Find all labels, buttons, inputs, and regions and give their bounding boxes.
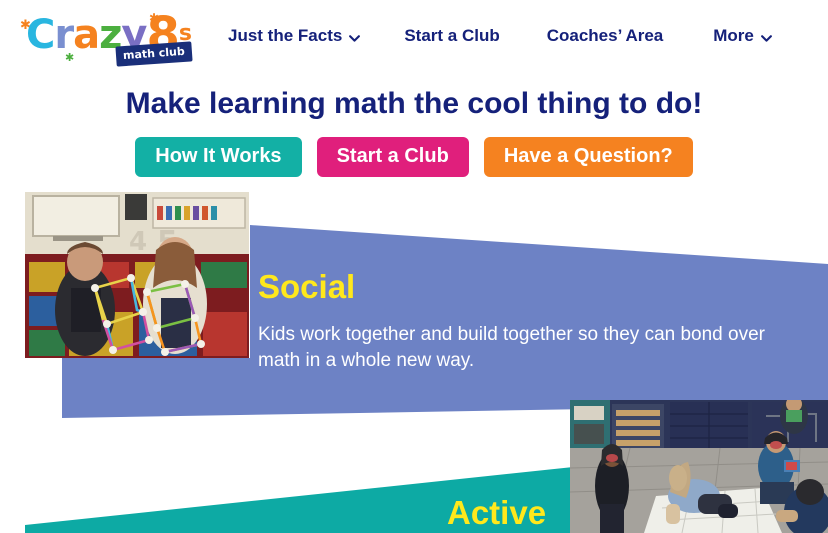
logo-letter-c: C — [26, 15, 54, 55]
start-a-club-button[interactable]: Start a Club — [317, 137, 469, 177]
svg-text:4: 4 — [129, 227, 147, 257]
social-photo-artwork: 4 5 — [25, 192, 249, 358]
site-header: ✱ ✱ ✱ Crazy8s math club Just the Facts S… — [0, 0, 828, 78]
chevron-down-icon[interactable] — [761, 35, 772, 42]
chevron-down-icon[interactable] — [349, 35, 360, 42]
nav-item-more[interactable]: More — [713, 26, 772, 46]
nav-item-start-a-club[interactable]: Start a Club — [404, 26, 499, 46]
social-band-title: Social — [258, 268, 803, 306]
nav-item-just-the-facts[interactable]: Just the Facts — [228, 26, 360, 46]
nav-label: Just the Facts — [228, 26, 342, 46]
page-headline: Make learning math the cool thing to do! — [0, 86, 828, 122]
how-it-works-button[interactable]: How It Works — [135, 137, 301, 177]
logo-letter-r: r — [54, 15, 73, 55]
nav-label: Coaches’ Area — [547, 26, 664, 46]
social-photo: 4 5 — [25, 192, 249, 358]
active-band-title: Active — [447, 494, 546, 532]
social-band-text: Social Kids work together and build toge… — [258, 268, 803, 374]
nav-item-coaches-area[interactable]: Coaches’ Area — [547, 26, 664, 46]
logo-tagline: math club — [115, 41, 192, 66]
hero-cta-row: How It Works Start a Club Have a Questio… — [0, 137, 828, 177]
have-a-question-button[interactable]: Have a Question? — [484, 137, 693, 177]
social-band-body: Kids work together and build together so… — [258, 322, 788, 374]
active-photo — [570, 400, 828, 533]
active-band-text: Active — [447, 494, 546, 532]
main-navigation: Just the Facts Start a Club Coaches’ Are… — [228, 26, 772, 46]
nav-label: Start a Club — [404, 26, 499, 46]
site-logo[interactable]: ✱ ✱ ✱ Crazy8s math club — [18, 8, 194, 66]
nav-label: More — [713, 26, 754, 46]
logo-letter-a: a — [73, 15, 99, 55]
active-photo-artwork — [570, 400, 828, 533]
